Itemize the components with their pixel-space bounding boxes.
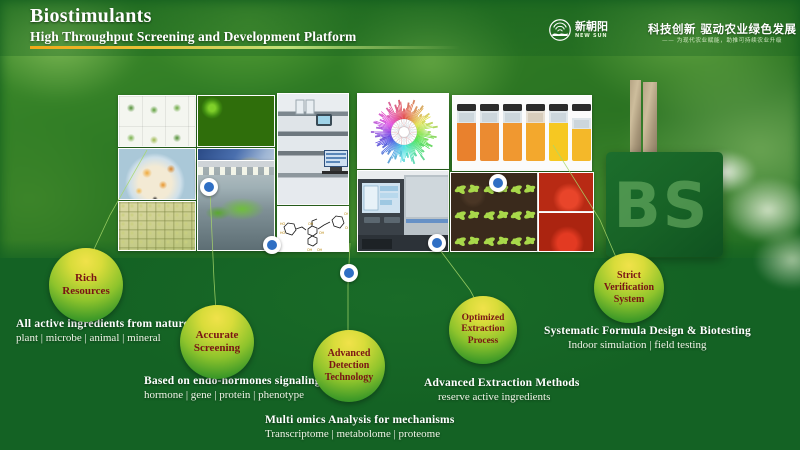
badge-label: AdvancedDetectionTechnology <box>321 348 378 385</box>
header-slogan-sub: —— 为现代农业赋能，助推可持续农业升级 <box>662 36 782 44</box>
badge-strict-verification-system[interactable]: StrictVerificationSystem <box>594 253 664 323</box>
growth-chamber-image <box>198 161 274 250</box>
slide-root: BS <box>0 0 800 450</box>
page-title: Biostimulants <box>30 5 152 28</box>
badge-label-line: Process <box>457 336 508 348</box>
screening-caption-line2: hormone | gene | protein | phenotype <box>144 389 321 401</box>
badge-label: AccurateScreening <box>190 329 244 356</box>
badge-label: StrictVerificationSystem <box>600 270 658 307</box>
badge-label-line: Technology <box>321 372 378 384</box>
plant-specimen-chart-tile <box>118 95 196 147</box>
badge-accurate-screening[interactable]: AccurateScreening <box>180 305 254 379</box>
badge-label-line: Accurate <box>190 329 244 342</box>
svg-text:OH: OH <box>319 231 325 235</box>
chemical-structure-tile: HOHO OHOH OHOH OHOH <box>277 206 349 252</box>
badge-label-line: Extraction <box>457 324 508 336</box>
header-divider <box>30 46 460 49</box>
badge-label: OptimizedExtractionProcess <box>457 313 508 348</box>
svg-text:OH: OH <box>307 248 313 252</box>
svg-text:HO: HO <box>280 231 285 235</box>
petri-dish-colony-tile <box>118 148 196 200</box>
marker-verification[interactable] <box>340 264 358 282</box>
verification-caption-line1: Systematic Formula Design & Biotesting <box>544 325 751 337</box>
brand-logo[interactable]: 新朝阳 NEW SUN <box>549 17 629 43</box>
plant-specimen-chart-image <box>119 96 195 146</box>
detection-caption: Multi omics Analysis for mechanisms Tran… <box>265 414 455 440</box>
sign-post-left <box>630 80 641 152</box>
badge-label-line: Resources <box>58 285 113 298</box>
bs-signboard: BS <box>606 152 723 257</box>
petri-dish-colony-image <box>119 149 195 199</box>
badge-optimized-extraction-process[interactable]: OptimizedExtractionProcess <box>449 296 517 364</box>
marker-omics[interactable] <box>428 234 446 252</box>
algae-microscopy-tile <box>197 95 275 147</box>
resources-caption: All active ingredients from nature plant… <box>16 318 189 344</box>
badge-label-line: Screening <box>190 342 244 355</box>
sunrise-mountain-logo-icon <box>549 19 571 41</box>
badge-rich-resources[interactable]: RichResources <box>49 248 123 322</box>
extraction-caption-line2: reserve active ingredients <box>438 391 580 403</box>
algae-microscopy-image <box>198 96 274 146</box>
sign-post-right <box>643 82 657 152</box>
badge-label-line: Strict <box>600 270 658 282</box>
verification-caption-line2: Indoor simulation | field testing <box>568 339 751 351</box>
marker-detection[interactable] <box>263 236 281 254</box>
badge-label-line: Rich <box>58 272 113 285</box>
page-subtitle: High Throughput Screening and Developmen… <box>30 29 356 45</box>
growth-chamber-tile <box>197 160 275 251</box>
svg-text:OH: OH <box>317 248 323 252</box>
screening-caption-line1: Based on endo-hormones signaling <box>144 375 321 387</box>
badge-label-line: Advanced <box>321 348 378 360</box>
well-plate-tile <box>118 201 196 251</box>
badge-label: RichResources <box>58 272 113 299</box>
tomato-field-bottom-tile <box>538 212 594 252</box>
brand-logo-en: NEW SUN <box>575 33 608 40</box>
resources-caption-line1: All active ingredients from nature <box>16 318 189 330</box>
detection-caption-line2: Transcriptome | metabolome | proteome <box>265 428 455 440</box>
bs-signboard-label: BS <box>614 175 710 237</box>
badge-label-line: System <box>600 294 658 306</box>
marker-screening[interactable] <box>200 178 218 196</box>
resources-caption-line2: plant | microbe | animal | mineral <box>16 332 189 344</box>
badge-label-line: Optimized <box>457 313 508 325</box>
svg-text:HO: HO <box>280 222 285 226</box>
svg-text:OH: OH <box>344 212 349 216</box>
well-plate-image <box>119 202 195 250</box>
extract-vials-tile <box>452 95 592 171</box>
header-slogan: 科技创新 驱动农业绿色发展 <box>648 21 797 37</box>
screening-caption: Based on endo-hormones signaling hormone… <box>144 375 321 401</box>
hplc-instrument-tile <box>277 93 349 205</box>
badge-label-line: Verification <box>600 282 658 294</box>
marker-extraction[interactable] <box>489 174 507 192</box>
phylogenetic-circle-tile <box>357 93 449 169</box>
badge-label-line: Detection <box>321 360 378 372</box>
tomato-field-bottom-image <box>539 213 593 251</box>
extraction-caption-line1: Advanced Extraction Methods <box>424 377 580 389</box>
verification-caption: Systematic Formula Design & Biotesting I… <box>544 325 751 351</box>
badge-advanced-detection-technology[interactable]: AdvancedDetectionTechnology <box>313 330 385 402</box>
svg-text:OH: OH <box>308 222 314 226</box>
detection-caption-line1: Multi omics Analysis for mechanisms <box>265 414 455 426</box>
extraction-caption: Advanced Extraction Methods reserve acti… <box>424 377 580 403</box>
header-bar: Biostimulants High Throughput Screening … <box>0 0 800 56</box>
brand-logo-cn: 新朝阳 <box>575 21 608 33</box>
svg-text:OH: OH <box>345 226 349 230</box>
tomato-field-top-tile <box>538 172 594 212</box>
tomato-field-top-image <box>539 173 593 211</box>
